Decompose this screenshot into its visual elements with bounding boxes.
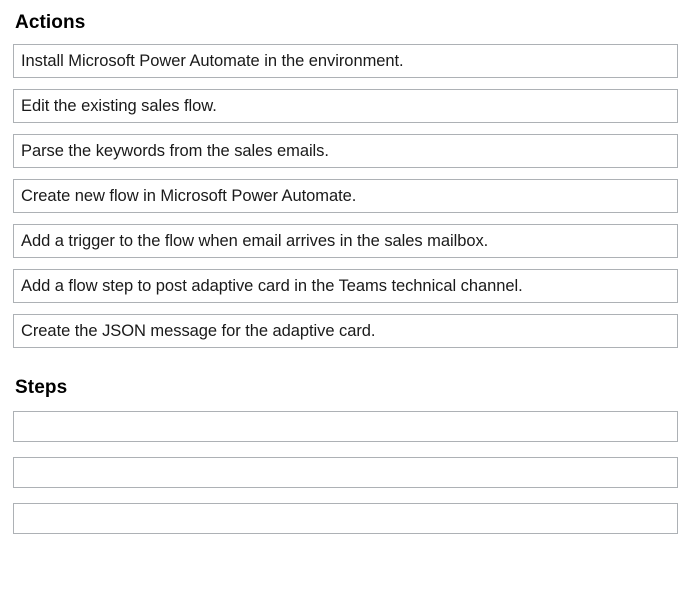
steps-dropzone-list: [13, 411, 687, 534]
action-item-label: Create the JSON message for the adaptive…: [21, 321, 375, 341]
step-dropzone[interactable]: [13, 411, 678, 442]
step-dropzone[interactable]: [13, 503, 678, 534]
steps-heading: Steps: [13, 359, 687, 400]
action-item-label: Edit the existing sales flow.: [21, 96, 217, 116]
action-item-label: Add a trigger to the flow when email arr…: [21, 231, 488, 251]
action-item[interactable]: Edit the existing sales flow.: [13, 89, 678, 123]
action-item[interactable]: Add a trigger to the flow when email arr…: [13, 224, 678, 258]
action-item-label: Create new flow in Microsoft Power Autom…: [21, 186, 356, 206]
action-item[interactable]: Create the JSON message for the adaptive…: [13, 314, 678, 348]
action-item[interactable]: Create new flow in Microsoft Power Autom…: [13, 179, 678, 213]
action-item-label: Add a flow step to post adaptive card in…: [21, 276, 523, 296]
actions-heading: Actions: [13, 0, 687, 35]
drag-drop-question-panel: Actions Install Microsoft Power Automate…: [0, 0, 700, 591]
step-dropzone[interactable]: [13, 457, 678, 488]
action-item[interactable]: Install Microsoft Power Automate in the …: [13, 44, 678, 78]
action-item-label: Install Microsoft Power Automate in the …: [21, 51, 404, 71]
action-item[interactable]: Parse the keywords from the sales emails…: [13, 134, 678, 168]
actions-list: Install Microsoft Power Automate in the …: [13, 44, 687, 348]
action-item-label: Parse the keywords from the sales emails…: [21, 141, 329, 161]
action-item[interactable]: Add a flow step to post adaptive card in…: [13, 269, 678, 303]
